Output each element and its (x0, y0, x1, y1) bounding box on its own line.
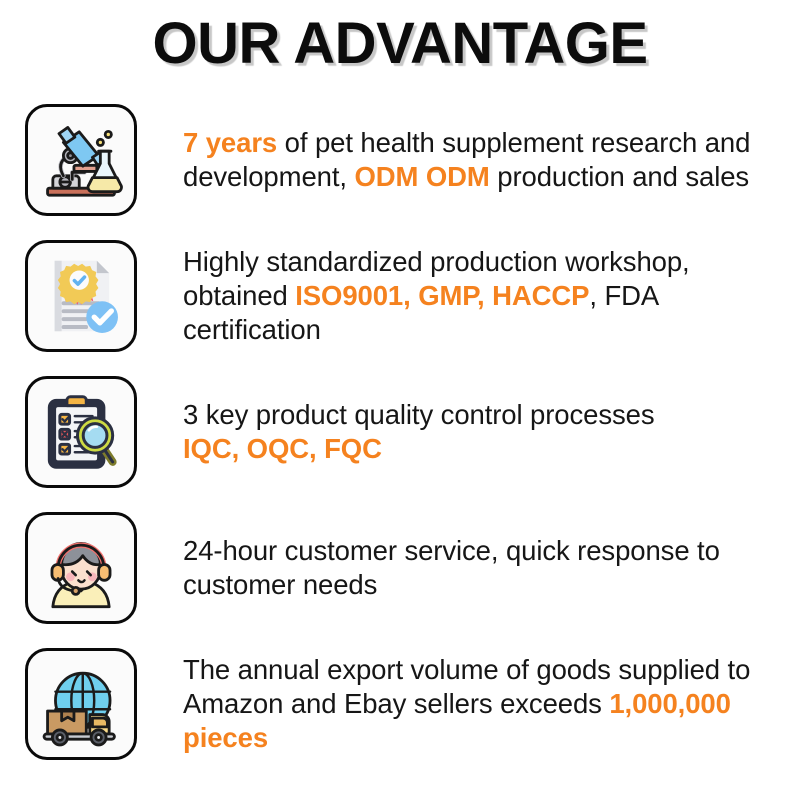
text-segment: 24-hour customer service, quick response… (183, 535, 720, 600)
advantage-text: 24-hour customer service, quick response… (137, 534, 800, 602)
advantage-list: 7 years of pet health supplement researc… (0, 100, 800, 764)
text-segment: 3 key product quality control processes (183, 399, 654, 430)
advantage-row: 24-hour customer service, quick response… (0, 508, 800, 628)
text-segment: ODM ODM (354, 161, 489, 192)
icon-tile (25, 648, 137, 760)
advantage-text: 7 years of pet health supplement researc… (137, 126, 800, 194)
text-segment: IQC, OQC, FQC (183, 433, 382, 464)
advantage-text: 3 key product quality control processesI… (137, 398, 800, 466)
advantage-row: Highly standardized production workshop,… (0, 236, 800, 356)
text-segment: ISO9001, GMP, HACCP (295, 280, 589, 311)
our-advantage-poster: OUR ADVANTAGE (0, 0, 800, 800)
icon-tile (25, 512, 137, 624)
advantage-row: 7 years of pet health supplement researc… (0, 100, 800, 220)
icon-tile (25, 240, 137, 352)
advantage-text: Highly standardized production workshop,… (137, 245, 800, 347)
icon-tile (25, 376, 137, 488)
icon-tile (25, 104, 137, 216)
advantage-row: The annual export volume of goods suppli… (0, 644, 800, 764)
title-container: OUR ADVANTAGE (0, 0, 800, 75)
advantage-text: The annual export volume of goods suppli… (137, 653, 800, 755)
text-segment: production and sales (490, 161, 749, 192)
page-title: OUR ADVANTAGE (152, 13, 647, 75)
advantage-row: 3 key product quality control processesI… (0, 372, 800, 492)
text-segment: 7 years (183, 127, 277, 158)
